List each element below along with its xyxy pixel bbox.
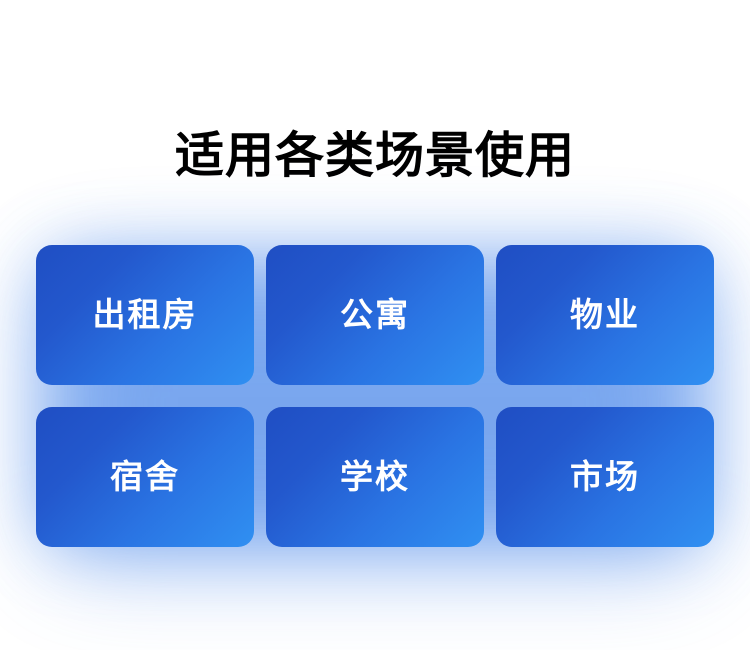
scene-card-label: 物业 xyxy=(570,295,640,335)
scene-card-label: 出租房 xyxy=(93,295,198,335)
scene-card-grid-container: 出租房 公寓 物业 宿舍 学校 市场 xyxy=(36,245,714,547)
scene-card-label: 学校 xyxy=(340,457,410,497)
page-title: 适用各类场景使用 xyxy=(175,125,575,187)
scene-showcase-page: 适用各类场景使用 出租房 公寓 物业 宿舍 学校 市场 xyxy=(0,0,750,650)
page-title-container: 适用各类场景使用 xyxy=(0,92,750,220)
scene-card-grid: 出租房 公寓 物业 宿舍 学校 市场 xyxy=(36,245,714,547)
scene-card-label: 市场 xyxy=(570,457,640,497)
scene-card-label: 宿舍 xyxy=(110,457,180,497)
scene-card-dormitory[interactable]: 宿舍 xyxy=(36,407,254,547)
scene-card-label: 公寓 xyxy=(340,295,410,335)
scene-card-market[interactable]: 市场 xyxy=(496,407,714,547)
scene-card-rental-room[interactable]: 出租房 xyxy=(36,245,254,385)
scene-card-apartment[interactable]: 公寓 xyxy=(266,245,484,385)
scene-card-property[interactable]: 物业 xyxy=(496,245,714,385)
scene-card-school[interactable]: 学校 xyxy=(266,407,484,547)
